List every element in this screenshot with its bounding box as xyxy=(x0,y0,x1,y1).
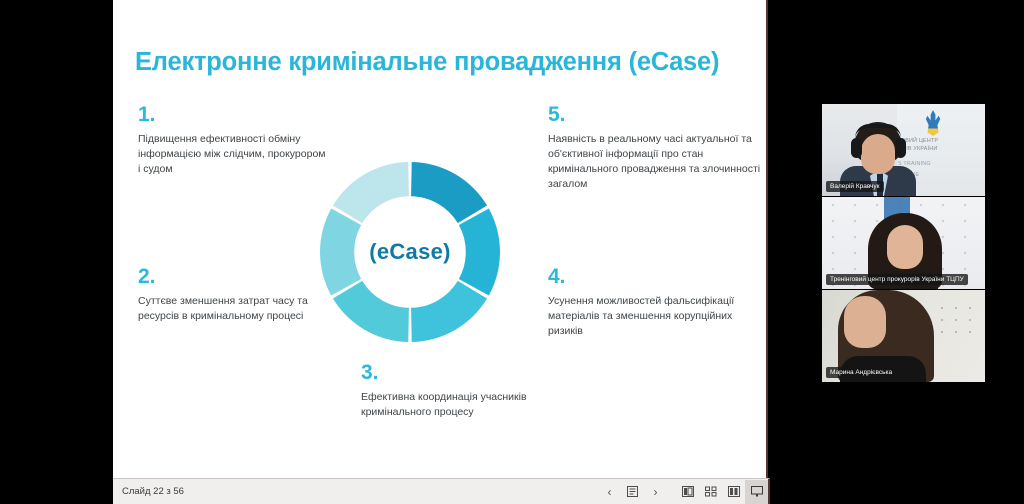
bullet-number-2: 2. xyxy=(138,266,318,287)
bullet-item-5: 5. Наявність в реальному часі актуальної… xyxy=(548,104,768,192)
bullet-number-5: 5. xyxy=(548,104,768,125)
participant-face xyxy=(861,134,895,174)
normal-view-icon xyxy=(682,486,694,497)
video-tile-3[interactable]: Марина Андрієвська xyxy=(822,290,985,382)
participant-name-3: Марина Андрієвська xyxy=(826,367,896,378)
headphone-right-icon xyxy=(895,138,906,158)
slideshow-view-button[interactable] xyxy=(745,480,768,504)
backdrop-text-line-c: S TRAINING xyxy=(898,160,982,168)
bullet-text-5: Наявність в реальному часі актуальної та… xyxy=(548,132,768,192)
headphone-band-icon xyxy=(855,124,901,138)
video-tile-1[interactable]: ГОВИЙ ЦЕНТР ОРІВ УКРАЇНИ S TRAINING KRAI… xyxy=(822,104,985,196)
video-participant-stack: ГОВИЙ ЦЕНТР ОРІВ УКРАЇНИ S TRAINING KRAI… xyxy=(822,104,985,384)
slideshow-icon xyxy=(751,486,763,497)
backdrop-text-line-a: ГОВИЙ ЦЕНТР xyxy=(898,137,982,145)
slide-icon xyxy=(627,486,638,497)
reading-view-button[interactable] xyxy=(722,480,745,504)
screen-capture: Електронне кримінальне провадження (eCas… xyxy=(0,0,1024,504)
powerpoint-status-bar: Слайд 22 з 56 ‹ › xyxy=(113,478,770,504)
presentation-slide-area[interactable]: Електронне кримінальне провадження (eCas… xyxy=(113,0,768,478)
page-title: Електронне кримінальне провадження (eCas… xyxy=(135,48,745,77)
slide-canvas: Електронне кримінальне провадження (eCas… xyxy=(113,0,766,478)
headphone-left-icon xyxy=(851,138,862,158)
previous-slide-button[interactable]: ‹ xyxy=(598,480,621,504)
bullet-item-2: 2. Суттєве зменшення затрат часу та ресу… xyxy=(138,266,318,324)
chevron-right-icon: › xyxy=(654,485,658,499)
slide-counter: Слайд 22 з 56 xyxy=(122,486,184,497)
bullet-text-1: Підвищення ефективності обміну інформаці… xyxy=(138,132,328,177)
bullet-text-3: Ефективна координація учасників кримінал… xyxy=(361,390,536,420)
participant-name-1: Валерій Кравчук xyxy=(826,181,884,192)
chevron-left-icon: ‹ xyxy=(608,485,612,499)
participant-name-2: Тренінговий центр прокурорів України ТЦП… xyxy=(826,274,968,285)
backdrop-pattern xyxy=(935,302,977,338)
video-tile-2[interactable]: Тренінговий центр прокурорів України ТЦП… xyxy=(822,197,985,289)
current-slide-button[interactable] xyxy=(621,480,644,504)
slide-sorter-icon xyxy=(705,486,717,497)
bullet-number-1: 1. xyxy=(138,104,328,125)
donut-center-label: (eCase) xyxy=(310,152,510,352)
bullet-item-1: 1. Підвищення ефективності обміну інформ… xyxy=(138,104,328,177)
next-slide-button[interactable]: › xyxy=(644,480,667,504)
bullet-text-2: Суттєве зменшення затрат часу та ресурсі… xyxy=(138,294,318,324)
reading-view-icon xyxy=(728,486,740,497)
backdrop-text-line-b: ОРІВ УКРАЇНИ xyxy=(898,145,982,153)
normal-view-button[interactable] xyxy=(676,480,699,504)
bullet-number-4: 4. xyxy=(548,266,753,287)
status-bar-controls: ‹ › xyxy=(598,479,768,504)
bullet-item-3: 3. Ефективна координація учасників кримі… xyxy=(361,362,536,420)
bullet-text-4: Усунення можливостей фальсифікації матер… xyxy=(548,294,753,339)
bullet-item-4: 4. Усунення можливостей фальсифікації ма… xyxy=(548,266,753,339)
ecase-donut-chart: (eCase) xyxy=(310,152,510,352)
slide-sorter-view-button[interactable] xyxy=(699,480,722,504)
participant-face xyxy=(887,225,923,269)
bullet-number-3: 3. xyxy=(361,362,536,383)
participant-face xyxy=(844,296,886,348)
